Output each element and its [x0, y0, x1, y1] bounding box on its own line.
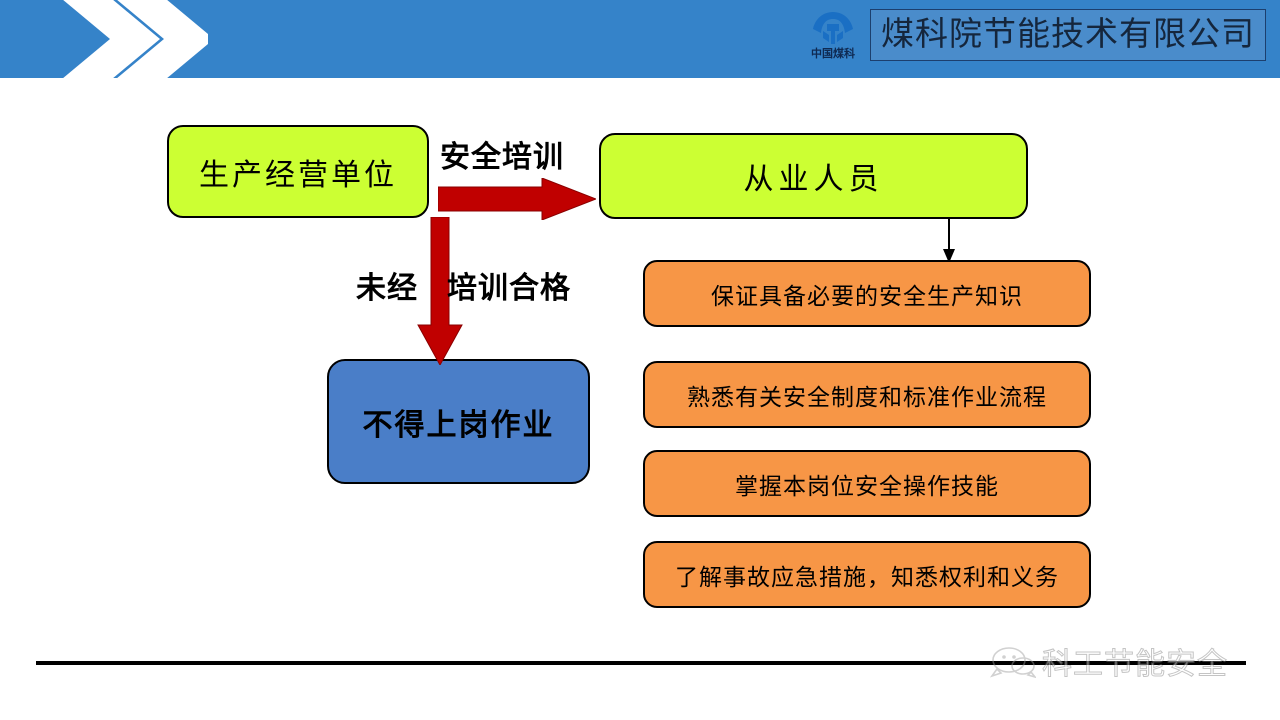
- watermark-text: 科工节能安全: [1042, 639, 1228, 683]
- watermark: 科工节能安全: [990, 639, 1228, 683]
- brand-area: 中国煤科 煤科院节能技术有限公司: [802, 9, 1266, 61]
- double-chevron-right-icon: [48, 0, 208, 78]
- node-production-unit[interactable]: 生产经营单位: [167, 125, 429, 218]
- edge-label-not-passed: 未经: [356, 263, 418, 307]
- page-header: 中国煤科 煤科院节能技术有限公司: [0, 0, 1280, 78]
- edge-label-safety-training: 安全培训: [440, 132, 564, 176]
- wechat-chat-bubble-icon: [990, 644, 1036, 678]
- company-logo: 中国煤科: [802, 11, 864, 60]
- company-title: 煤科院节能技术有限公司: [870, 9, 1266, 61]
- requirement-box[interactable]: 掌握本岗位安全操作技能: [643, 450, 1091, 517]
- black-arrow-down-icon: [940, 219, 958, 263]
- node-employees[interactable]: 从业人员: [599, 133, 1028, 219]
- red-arrow-right-icon: [438, 178, 596, 220]
- edge-label-training-qualified: 培训合格: [447, 263, 571, 307]
- requirement-box[interactable]: 熟悉有关安全制度和标准作业流程: [643, 361, 1091, 428]
- slide-body: 生产经营单位 从业人员 不得上岗作业 安全培训 未经 培训合格 保证具备必要的安…: [0, 78, 1280, 720]
- requirement-box[interactable]: 保证具备必要的安全生产知识: [643, 260, 1091, 327]
- china-coal-technology-logo-icon: [811, 11, 855, 47]
- node-not-allowed-to-work[interactable]: 不得上岗作业: [327, 359, 590, 484]
- requirement-box[interactable]: 了解事故应急措施，知悉权利和义务: [643, 541, 1091, 608]
- logo-caption: 中国煤科: [811, 48, 855, 60]
